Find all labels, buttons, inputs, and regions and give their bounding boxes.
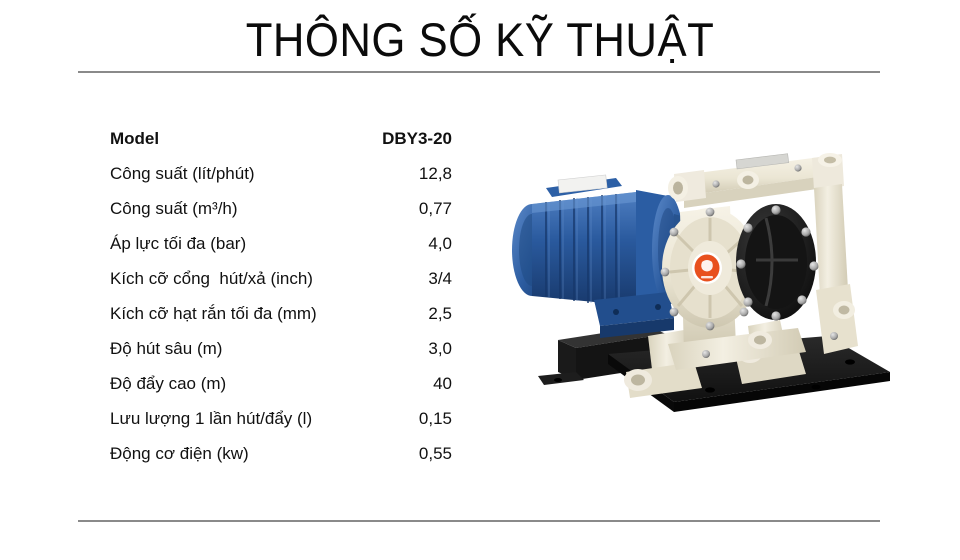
spec-label: Độ đẩy cao (m) bbox=[110, 373, 226, 395]
table-header-row: Model DBY3-20 bbox=[110, 128, 452, 163]
spec-value: 2,5 bbox=[428, 303, 452, 325]
specifications-table: Model DBY3-20 Công suất (lít/phút) 12,8 … bbox=[110, 128, 452, 478]
spec-label: Động cơ điện (kw) bbox=[110, 443, 249, 465]
table-row: Kích cỡ hạt rắn tối đa (mm) 2,5 bbox=[110, 303, 452, 338]
brand-logo-badge bbox=[692, 252, 722, 284]
slide-page: THÔNG SỐ KỸ THUẬT Model DBY3-20 Công suấ… bbox=[0, 0, 960, 560]
page-title: THÔNG SỐ KỸ THUẬT bbox=[34, 14, 927, 66]
table-row: Độ hút sâu (m) 3,0 bbox=[110, 338, 452, 373]
divider-top bbox=[78, 71, 880, 73]
table-row: Lưu lượng 1 lần hút/đẩy (l) 0,15 bbox=[110, 408, 452, 443]
divider-bottom bbox=[78, 520, 880, 522]
product-photo-diaphragm-pump bbox=[498, 140, 898, 420]
table-row: Áp lực tối đa (bar) 4,0 bbox=[110, 233, 452, 268]
spec-value: 3,0 bbox=[428, 338, 452, 360]
table-header-label: Model bbox=[110, 128, 159, 150]
spec-label: Công suất (lít/phút) bbox=[110, 163, 255, 185]
motor-nameplate bbox=[558, 175, 607, 193]
spec-value: 0,55 bbox=[419, 443, 452, 465]
spec-value: 40 bbox=[433, 373, 452, 395]
flange-cover bbox=[736, 204, 819, 321]
spec-label: Kích cỡ hạt rắn tối đa (mm) bbox=[110, 303, 317, 325]
spec-value: 0,77 bbox=[419, 198, 452, 220]
spec-label: Kích cỡ cổng hút/xả (inch) bbox=[110, 268, 313, 290]
table-header-value: DBY3-20 bbox=[382, 128, 452, 150]
table-row: Công suất (lít/phút) 12,8 bbox=[110, 163, 452, 198]
spec-label: Độ hút sâu (m) bbox=[110, 338, 222, 360]
spec-label: Lưu lượng 1 lần hút/đẩy (l) bbox=[110, 408, 312, 430]
spec-value: 0,15 bbox=[419, 408, 452, 430]
spec-label: Áp lực tối đa (bar) bbox=[110, 233, 246, 255]
table-row: Động cơ điện (kw) 0,55 bbox=[110, 443, 452, 478]
table-row: Độ đẩy cao (m) 40 bbox=[110, 373, 452, 408]
pump-illustration bbox=[498, 140, 898, 420]
table-row: Kích cỡ cổng hút/xả (inch) 3/4 bbox=[110, 268, 452, 303]
table-row: Công suất (m³/h) 0,77 bbox=[110, 198, 452, 233]
spec-value: 4,0 bbox=[428, 233, 452, 255]
spec-value: 12,8 bbox=[419, 163, 452, 185]
spec-label: Công suất (m³/h) bbox=[110, 198, 238, 220]
spec-value: 3/4 bbox=[428, 268, 452, 290]
